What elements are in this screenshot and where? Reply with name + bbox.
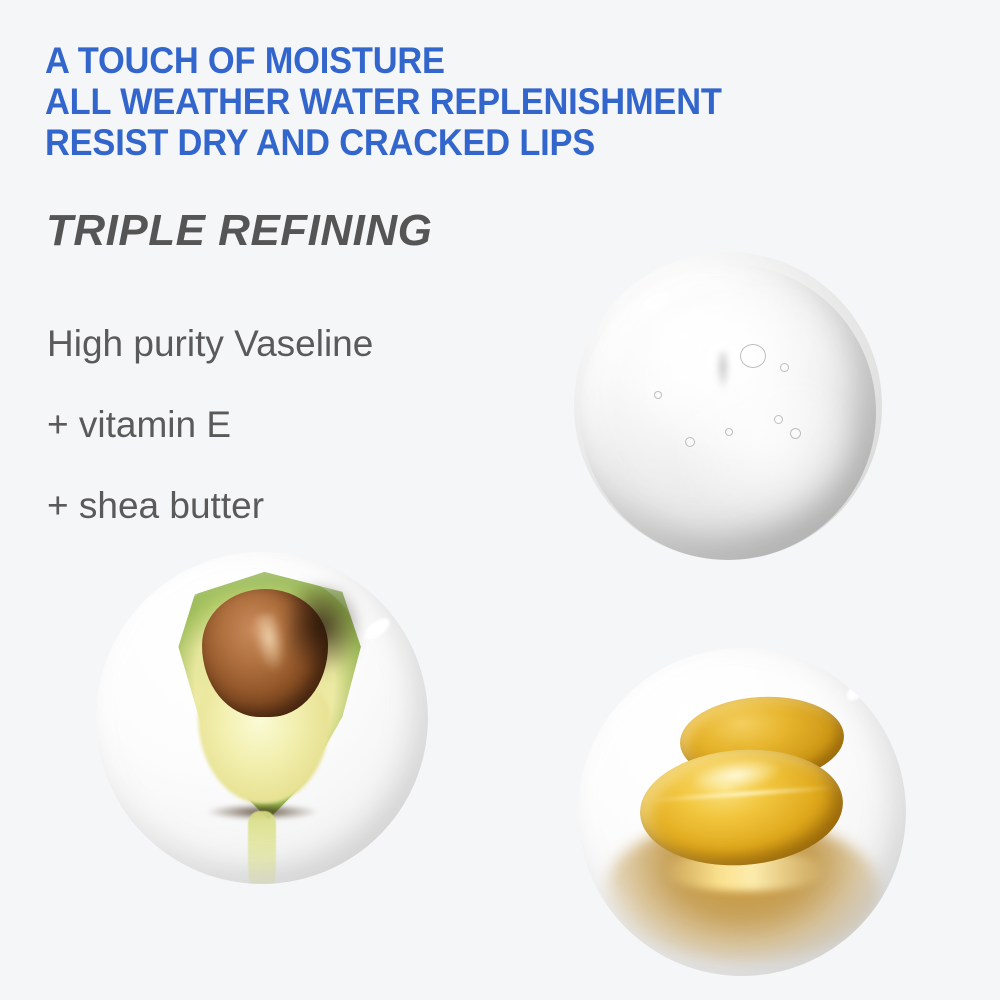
ingredient-item-vaseline: High purity Vaseline — [47, 303, 517, 384]
headline-line-1: A TOUCH OF MOISTURE — [45, 40, 882, 81]
ingredient-list: High purity Vaseline + vitamin E + shea … — [47, 303, 517, 546]
headline-block: A TOUCH OF MOISTURE ALL WEATHER WATER RE… — [45, 40, 945, 163]
vaseline-gel-sphere — [574, 252, 882, 560]
droplet-glass-ring — [96, 552, 428, 884]
headline-line-2: ALL WEATHER WATER REPLENISHMENT — [45, 81, 882, 122]
vitamin-e-capsule-sphere — [578, 648, 906, 976]
subtitle-triple-refining: TRIPLE REFINING — [46, 205, 432, 257]
gel-swirl-lower — [666, 369, 851, 529]
headline-line-3: RESIST DRY AND CRACKED LIPS — [45, 122, 882, 163]
gel-bubble-small-5 — [654, 391, 662, 399]
gel-bubble-small-3 — [790, 428, 801, 439]
gel-bubble-small-6 — [725, 428, 733, 436]
avocado-droplet-sphere — [96, 552, 428, 884]
ingredient-item-shea-butter: + shea butter — [47, 465, 517, 546]
ingredient-item-vitamin-e: + vitamin E — [47, 384, 517, 465]
product-feature-poster: A TOUCH OF MOISTURE ALL WEATHER WATER RE… — [0, 0, 1000, 1000]
gel-crease — [716, 351, 730, 391]
gel-bubble-small-4 — [685, 437, 695, 447]
